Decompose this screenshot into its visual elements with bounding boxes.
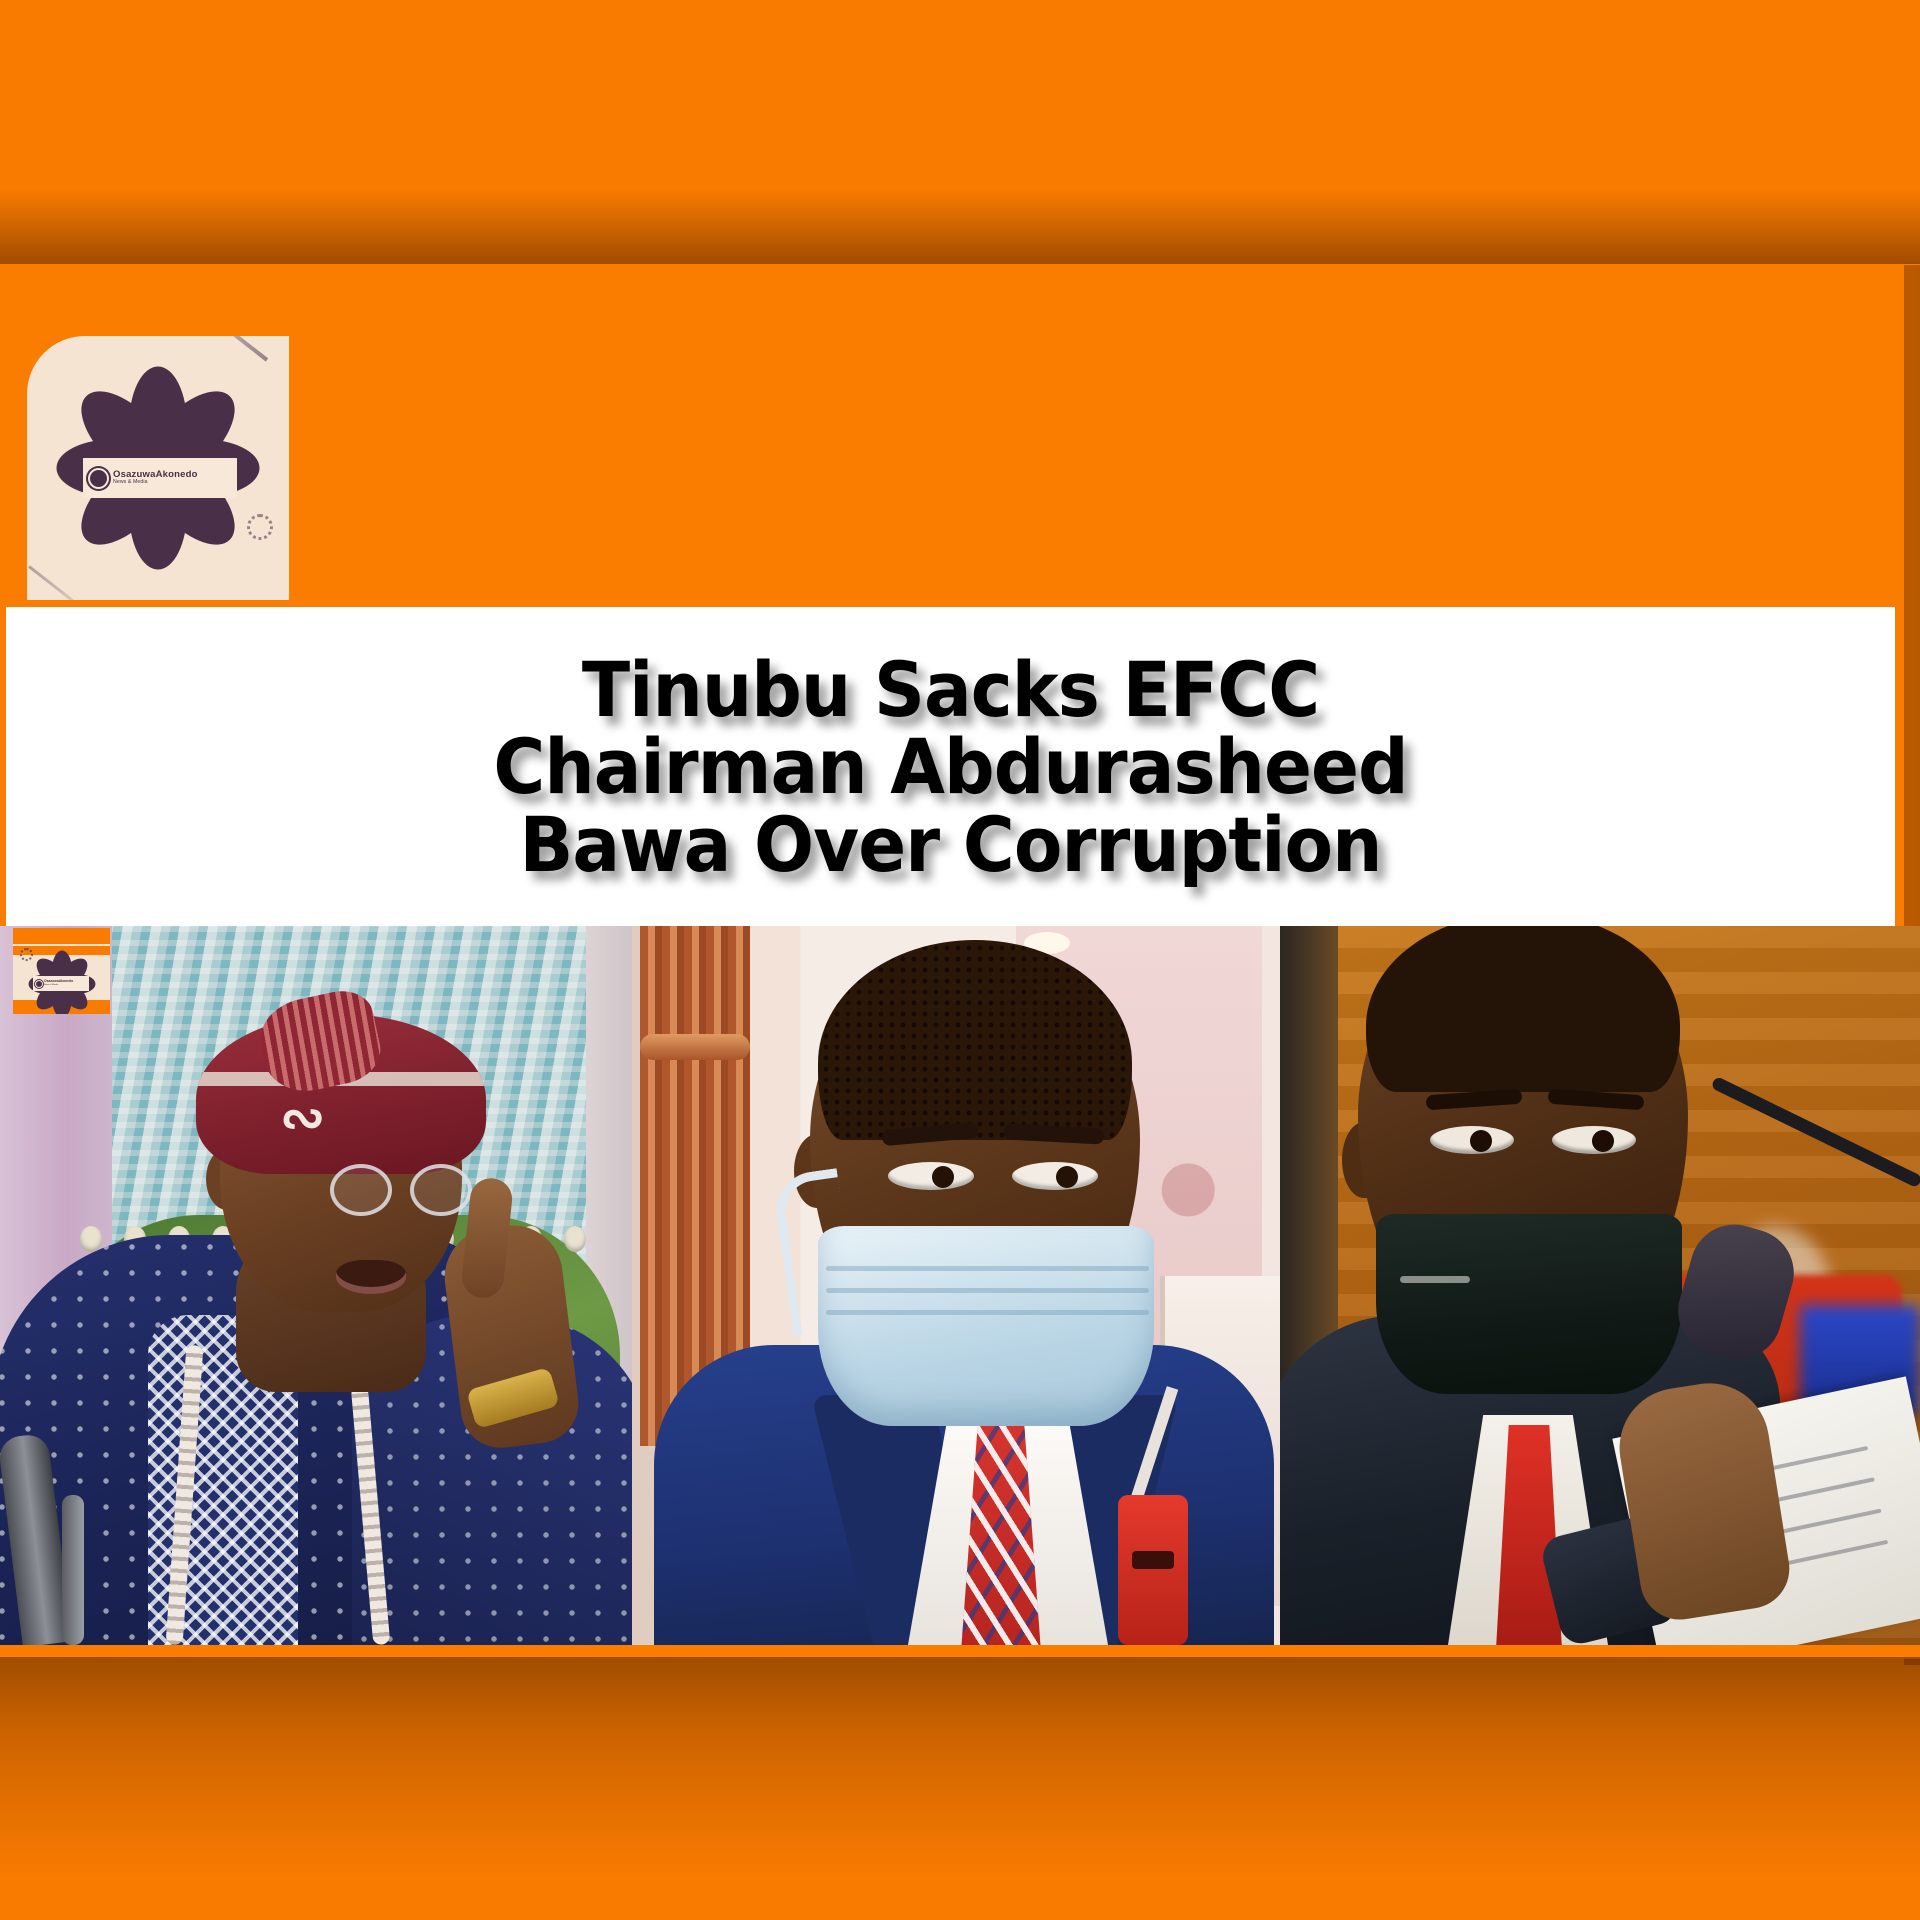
photo1-glasses-icon	[330, 1164, 472, 1220]
photo2-surgical-mask	[818, 1226, 1154, 1426]
logo-center-nub	[150, 506, 176, 515]
card-top-shadow	[0, 190, 1920, 270]
under-strip	[0, 1645, 1920, 1659]
watermark-top-bar	[13, 928, 110, 944]
photo3-eye-right	[1552, 1126, 1636, 1154]
photo-bawa-microphone[interactable]	[1280, 926, 1920, 1645]
corner-watermark-logo[interactable]: OsazuwaAkonedoNews & Media	[13, 928, 110, 1014]
headline-band: Tinubu Sacks EFCC Chairman Abdurasheed B…	[6, 607, 1895, 927]
photo2-curtain-rod	[640, 1034, 750, 1060]
watermark-wordmark-band: OsazuwaAkonedoNews & Media	[33, 976, 89, 991]
photo1-cap-emblem: ∾	[280, 1092, 400, 1144]
photo-bawa-masked[interactable]	[632, 926, 1280, 1645]
headline-line-1: Tinubu Sacks EFCC	[493, 651, 1407, 729]
photo2-id-badge	[1118, 1495, 1188, 1645]
watermark-wordmark: OsazuwaAkonedoNews & Media	[44, 980, 73, 986]
photo-strip: ∾	[0, 926, 1920, 1645]
photo1-microphone-secondary	[62, 1495, 84, 1645]
chair-stud	[80, 1226, 102, 1252]
logo-stamp-icon	[247, 514, 273, 540]
logo-tagline: News & Media	[113, 480, 198, 485]
photo3-hair	[1366, 926, 1680, 1092]
publisher-logo[interactable]: OsazuwaAkonedoNews & Media	[27, 336, 289, 600]
headline-line-3: Bawa Over Corruption	[493, 806, 1407, 884]
card-bottom-shadow	[0, 1657, 1920, 1877]
chair-stud	[564, 1226, 586, 1252]
photo2-eye-left	[888, 1162, 974, 1190]
logo-wordmark: OsazuwaAkonedoNews & Media	[113, 470, 198, 485]
photo1-mouth	[336, 1260, 406, 1294]
logo-tagline: News & Media	[44, 984, 73, 986]
photo3-eye-left	[1430, 1126, 1514, 1154]
watermark-mark-icon	[36, 981, 42, 987]
photo3-black-mask	[1376, 1214, 1682, 1394]
photo-tinubu[interactable]: ∾	[0, 926, 632, 1645]
logo-wordmark-band: OsazuwaAkonedoNews & Media	[83, 458, 237, 498]
watermark-stamp-icon	[20, 948, 33, 961]
photo2-eye-right	[1012, 1162, 1098, 1190]
logo-mark-icon	[90, 470, 107, 487]
page-title: Tinubu Sacks EFCC Chairman Abdurasheed B…	[438, 651, 1464, 884]
headline-line-2: Chairman Abdurasheed	[493, 728, 1407, 806]
